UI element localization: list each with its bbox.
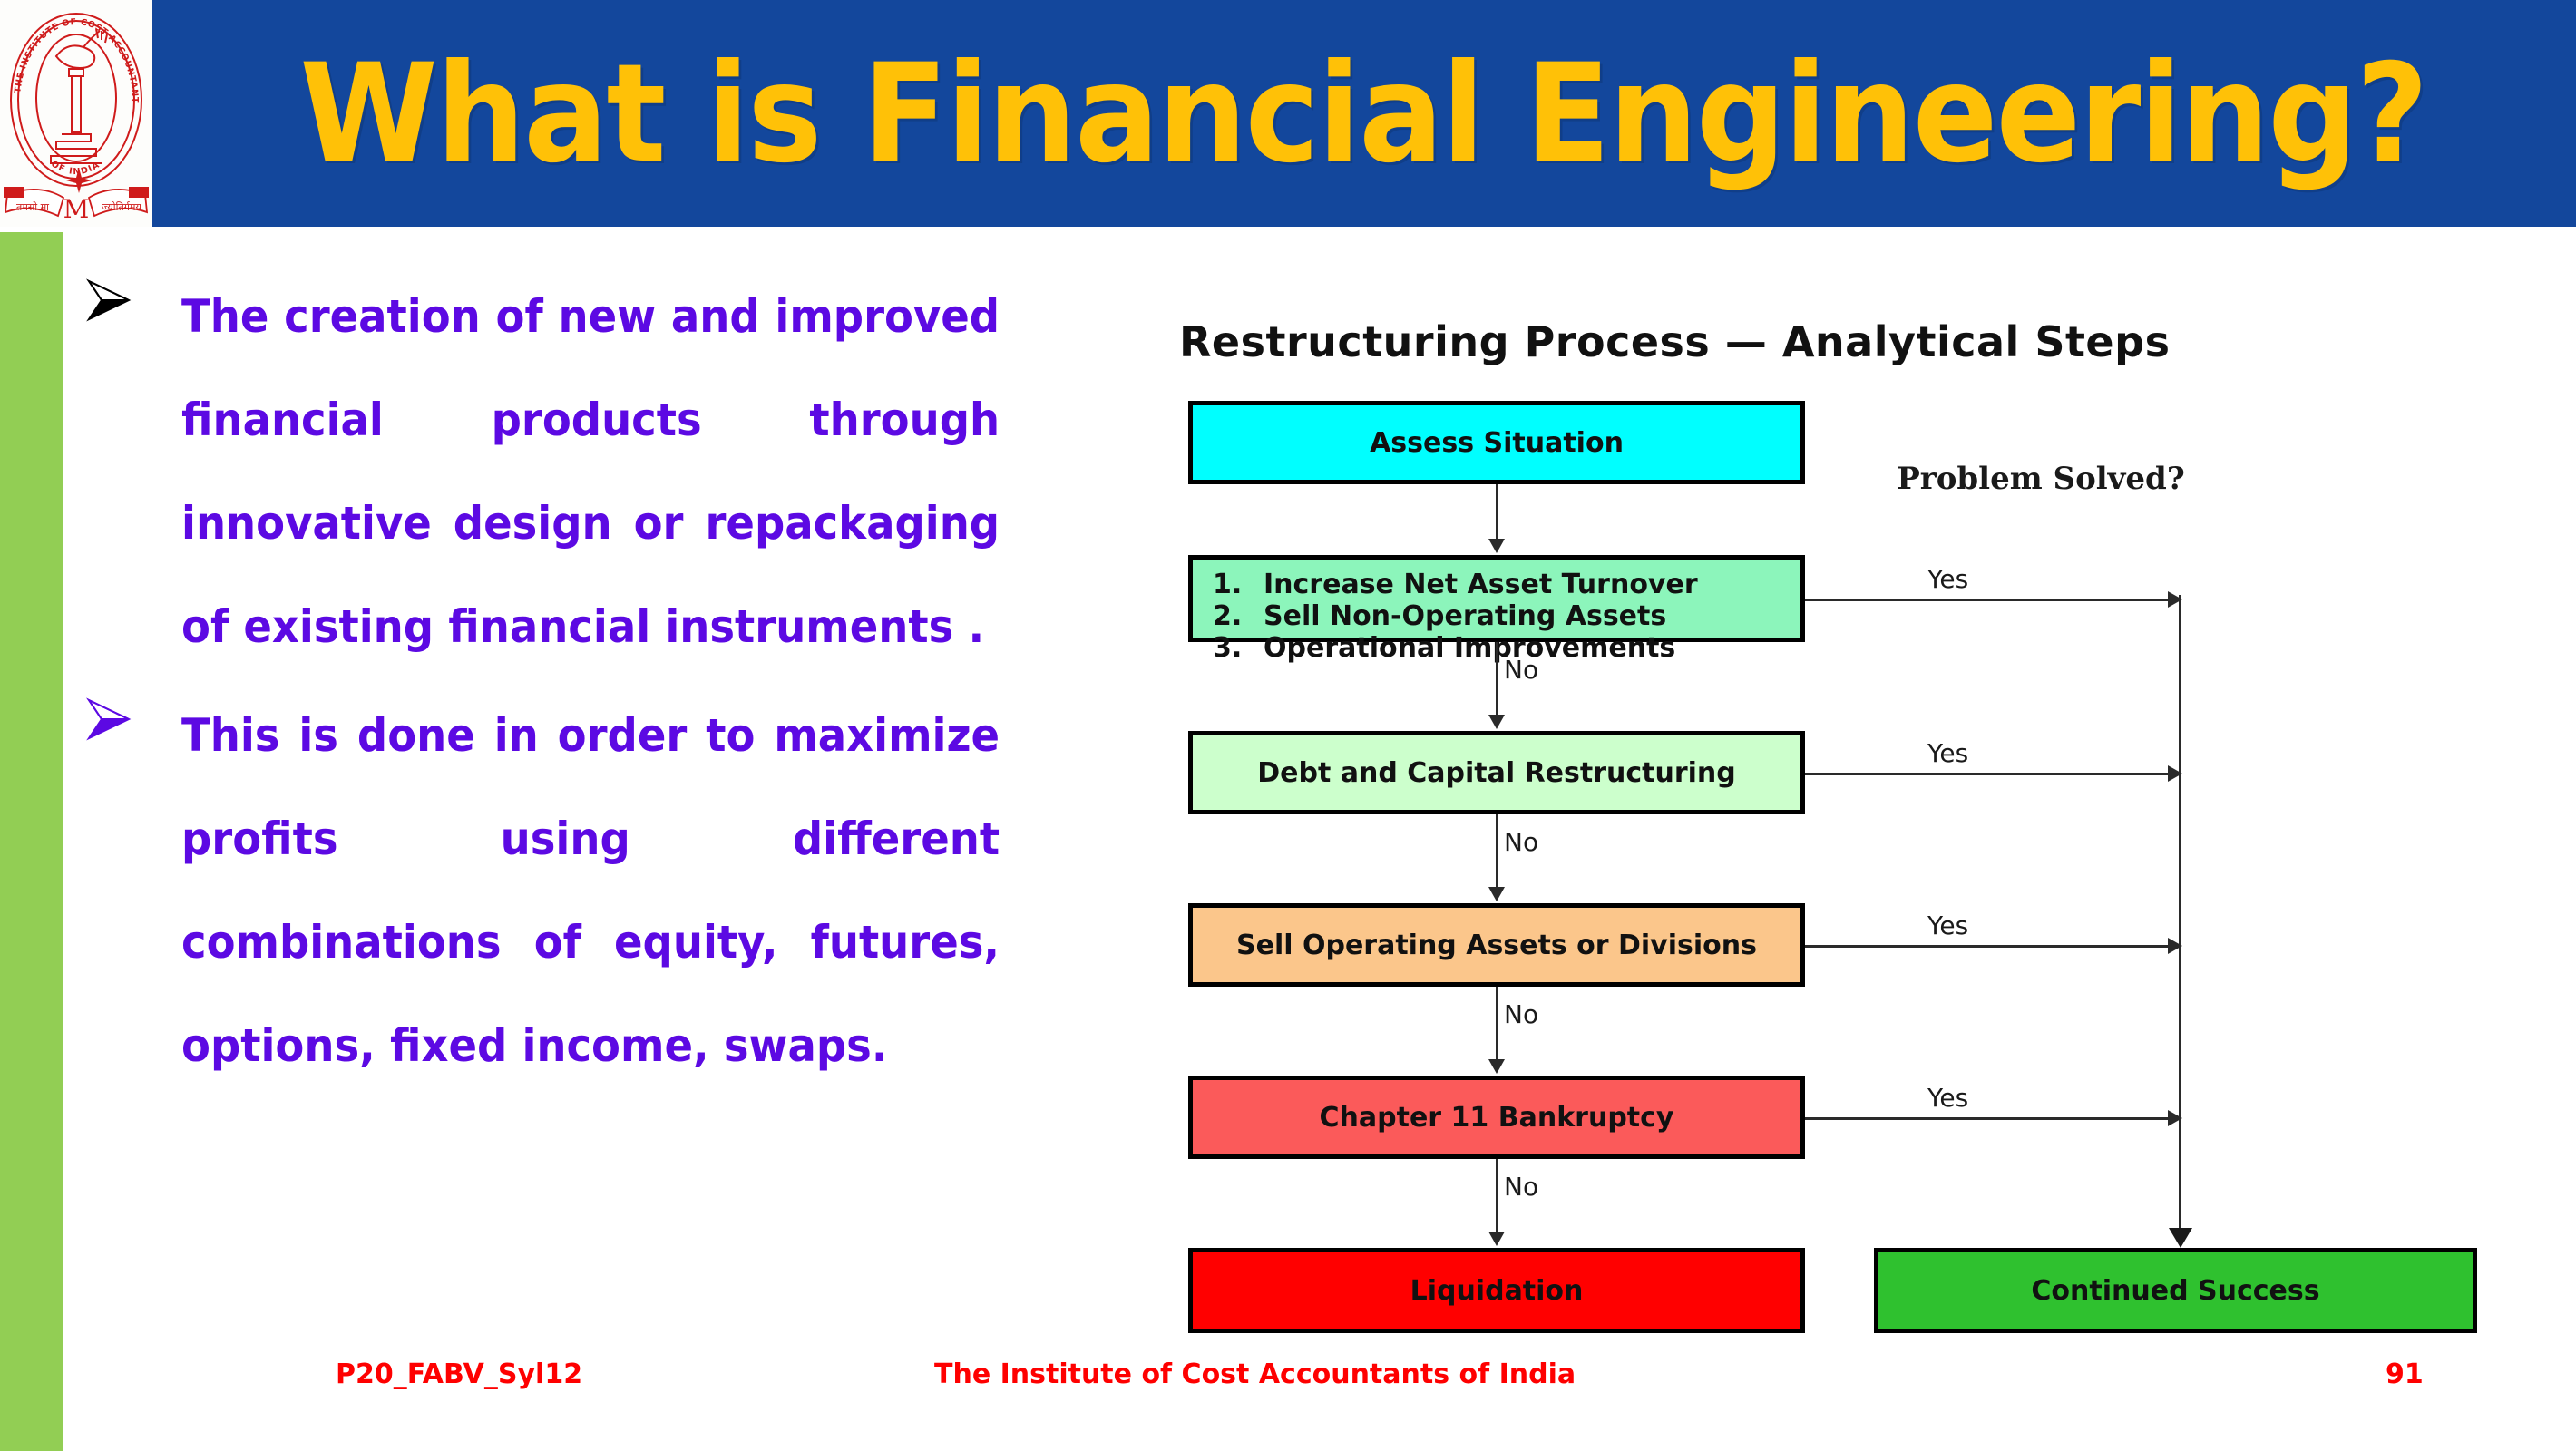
connector-bankruptcy-yes [1805,1117,2179,1120]
numbered-item-text: Operational Improvements [1264,632,1675,664]
flow-node-label: Chapter 11 Bankruptcy [1320,1102,1674,1134]
footer-course-code: P20_FABV_Syl12 [336,1358,582,1390]
connector-label-no: No [1504,999,1538,1029]
svg-text:तमसो मा: तमसो मा [16,201,49,213]
connector-sell-yes [1805,945,2179,948]
list-item: This is done in order to maximize profit… [82,684,1061,1097]
connector-yes-trunk [2179,595,2181,1237]
connector-label-yes: Yes [1927,738,1968,768]
page-title: What is Financial Engineering? [248,9,2479,219]
flow-node-operational-options[interactable]: 1. Increase Net Asset Turnover 2. Sell N… [1188,555,1805,642]
flow-node-label: Liquidation [1410,1275,1584,1307]
footer-page-number: 91 [2386,1358,2424,1390]
restructuring-flowchart: Restructuring Process — Analytical Steps… [1161,299,2549,1306]
flow-node-debt-capital-restructuring[interactable]: Debt and Capital Restructuring [1188,731,1805,814]
flow-node-label: Sell Operating Assets or Divisions [1236,930,1757,961]
connector-label-no: No [1504,1172,1538,1202]
flow-node-label: Debt and Capital Restructuring [1257,757,1736,789]
svg-text:M: M [63,194,90,224]
footer: P20_FABV_Syl12 The Institute of Cost Acc… [0,1358,2576,1422]
bullet-list: The creation of new and improved financi… [82,265,1061,1103]
flow-node-assess-situation[interactable]: Assess Situation [1188,401,1805,484]
connector-label-yes: Yes [1927,1083,1968,1113]
arrow-down-icon [1488,887,1505,901]
connector-options-no [1496,642,1498,720]
svg-text:ज्योतिर्गमय: ज्योतिर्गमय [102,201,141,213]
flow-node-chapter-11-bankruptcy[interactable]: Chapter 11 Bankruptcy [1188,1076,1805,1159]
arrow-down-icon [1488,715,1505,729]
connector-label-no: No [1504,827,1538,857]
connector-sell-no [1496,987,1498,1065]
problem-solved-header: Problem Solved? [1832,461,2249,497]
connector-label-yes: Yes [1927,911,1968,940]
numbered-item-index: 3. [1213,632,1264,664]
connector-bankruptcy-no [1496,1159,1498,1237]
arrow-down-icon [1488,1059,1505,1074]
list-item-text: This is done in order to maximize profit… [181,684,1000,1097]
left-accent-bar [0,232,63,1451]
flow-node-label: Continued Success [2031,1275,2319,1307]
connector-debt-yes [1805,773,2179,775]
arrow-down-icon [1488,1232,1505,1246]
numbered-item: 3. Operational Improvements [1213,632,1788,664]
connector-label-no: No [1504,655,1538,685]
list-item-text: The creation of new and improved financi… [181,265,1000,678]
numbered-item: 2. Sell Non-Operating Assets [1213,600,1788,632]
list-item: The creation of new and improved financi… [82,265,1061,678]
flowchart-title: Restructuring Process — Analytical Steps [1179,317,2170,366]
numbered-item-text: Increase Net Asset Turnover [1264,569,1698,600]
arrow-down-icon [2169,1228,2192,1248]
flow-node-sell-operating-assets[interactable]: Sell Operating Assets or Divisions [1188,903,1805,987]
numbered-item-index: 1. [1213,569,1264,600]
flow-node-liquidation[interactable]: Liquidation [1188,1248,1805,1333]
connector-debt-no [1496,814,1498,892]
numbered-item: 1. Increase Net Asset Turnover [1213,569,1788,600]
numbered-item-index: 2. [1213,600,1264,632]
institute-logo: THE INSTITUTE OF COST ACCOUNTANTS OF IND… [0,0,152,227]
arrow-down-icon [1488,539,1505,553]
arrow-bullet-icon [82,691,136,745]
arrow-bullet-icon [82,272,136,326]
footer-organisation: The Institute of Cost Accountants of Ind… [934,1358,1576,1390]
flow-node-label: Assess Situation [1370,427,1624,459]
connector-label-yes: Yes [1927,564,1968,594]
numbered-item-text: Sell Non-Operating Assets [1264,600,1666,632]
flow-node-continued-success[interactable]: Continued Success [1874,1248,2477,1333]
connector-assess-to-options [1496,484,1498,544]
connector-options-yes [1805,599,2179,601]
